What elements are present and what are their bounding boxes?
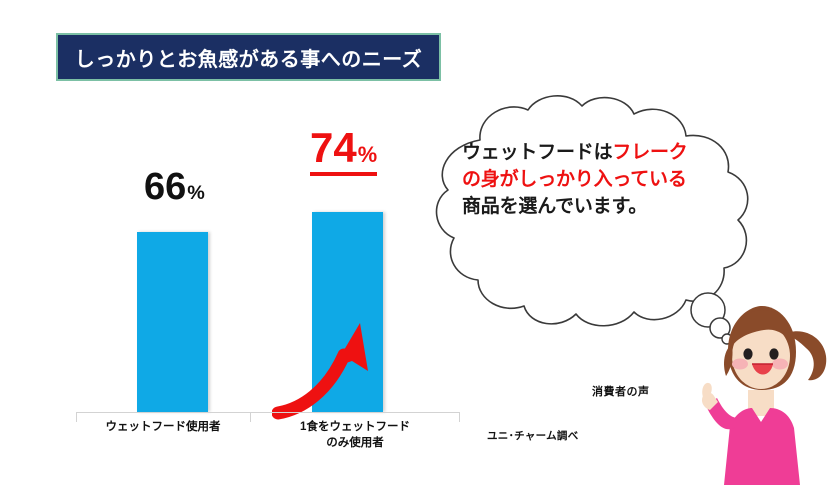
category-label-2: 1食をウェットフード のみ使用者 (250, 420, 460, 451)
bubble-line-3: 商品を選んでいます。 (462, 194, 732, 221)
title-banner: しっかりとお魚感がある事へのニーズ (56, 33, 441, 81)
bar-value-1: 66 (144, 166, 186, 208)
consumer-voice-caption: 消費者の声 (592, 383, 650, 399)
bar-value-label-1: 66% (144, 168, 205, 206)
growth-arrow-icon (272, 305, 392, 425)
survey-source-caption: ユニ･チャーム調べ (487, 428, 579, 443)
bar-value-label-2: 74% (310, 127, 377, 176)
chart-axis-line (76, 412, 460, 413)
bubble-line-2: の身がしっかり入っている (462, 167, 732, 194)
bar-column-1 (137, 232, 208, 412)
bar-value-2: 74 (310, 124, 357, 171)
category-label-2-line-2: のみ使用者 (250, 436, 460, 452)
woman-illustration-icon (690, 298, 840, 485)
bubble-line-1-black: ウェットフードは (462, 142, 612, 163)
category-label-1: ウェットフード使用者 (76, 420, 250, 436)
percent-sign-2: % (358, 142, 377, 167)
bubble-line-1-red: フレーク (612, 142, 687, 163)
bubble-line-1: ウェットフードはフレーク (462, 140, 732, 167)
percent-sign-1: % (187, 182, 205, 204)
category-label-2-line-1: 1食をウェットフード (250, 420, 460, 436)
page-title: しっかりとお魚感がある事へのニーズ (75, 43, 423, 72)
thought-bubble-text: ウェットフードはフレーク の身がしっかり入っている 商品を選んでいます。 (462, 140, 732, 221)
category-label-1-line-1: ウェットフード使用者 (76, 420, 250, 436)
slide-canvas: しっかりとお魚感がある事へのニーズ 66% 74% ウェットフード使用者 1食を… (0, 0, 840, 485)
bar-chart: 66% 74% ウェットフード使用者 1食をウェットフード のみ使用者 (60, 100, 460, 480)
